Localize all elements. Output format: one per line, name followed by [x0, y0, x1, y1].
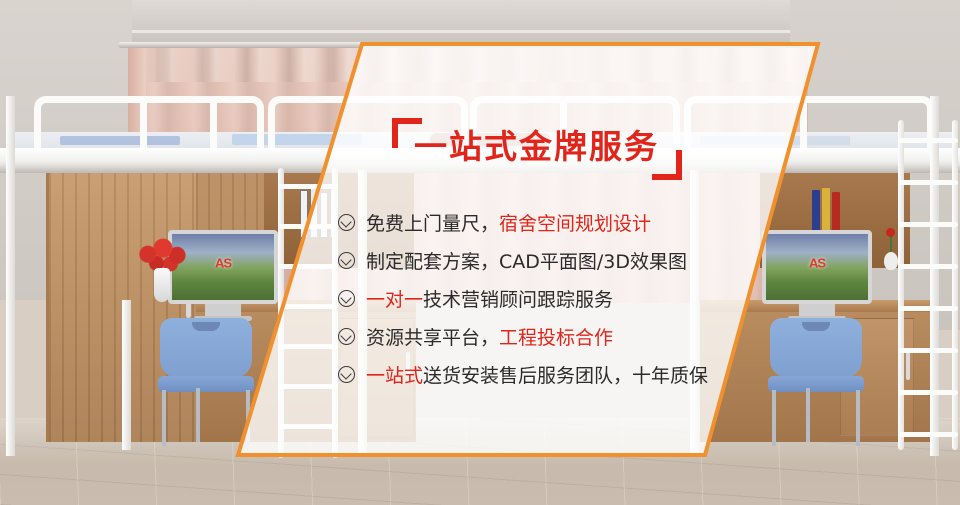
- service-list: 免费上门量尺，宿舍空间规划设计制定配套方案，CAD平面图/3D效果图一对一技术营…: [338, 203, 758, 393]
- normal-text: 技术营销顾问跟踪服务: [423, 289, 613, 311]
- highlight-text: 一对一: [366, 289, 423, 311]
- title-block: 一站式金牌服务: [392, 118, 682, 180]
- service-item-text: 免费上门量尺，宿舍空间规划设计: [366, 209, 651, 236]
- chevron-down-circle-icon: [338, 290, 355, 307]
- service-item-text: 制定配套方案，CAD平面图/3D效果图: [366, 247, 687, 274]
- chevron-down-circle-icon: [338, 214, 355, 231]
- normal-text: 送货安装售后服务团队，十年质保: [423, 365, 708, 387]
- service-item-text: 资源共享平台，工程投标合作: [366, 323, 613, 350]
- service-list-item: 免费上门量尺，宿舍空间规划设计: [338, 203, 758, 241]
- page-title: 一站式金牌服务: [414, 122, 659, 172]
- chevron-down-circle-icon: [338, 252, 355, 269]
- banner-content: 一站式金牌服务 免费上门量尺，宿舍空间规划设计制定配套方案，CAD平面图/3D效…: [0, 0, 960, 505]
- service-item-text: 一对一技术营销顾问跟踪服务: [366, 285, 613, 312]
- normal-text: 免费上门量尺，: [366, 213, 499, 235]
- service-banner: AS AS: [0, 0, 960, 505]
- service-list-item: 一站式送货安装售后服务团队，十年质保: [338, 355, 758, 393]
- chevron-down-circle-icon: [338, 328, 355, 345]
- normal-text: 制定配套方案，CAD平面图/3D效果图: [366, 251, 687, 273]
- chevron-down-circle-icon: [338, 366, 355, 383]
- service-list-item: 制定配套方案，CAD平面图/3D效果图: [338, 241, 758, 279]
- service-list-item: 一对一技术营销顾问跟踪服务: [338, 279, 758, 317]
- highlight-text: 一站式: [366, 365, 423, 387]
- highlight-text: 工程投标合作: [499, 327, 613, 349]
- highlight-text: 宿舍空间规划设计: [499, 213, 651, 235]
- service-list-item: 资源共享平台，工程投标合作: [338, 317, 758, 355]
- normal-text: 资源共享平台，: [366, 327, 499, 349]
- service-item-text: 一站式送货安装售后服务团队，十年质保: [366, 361, 708, 388]
